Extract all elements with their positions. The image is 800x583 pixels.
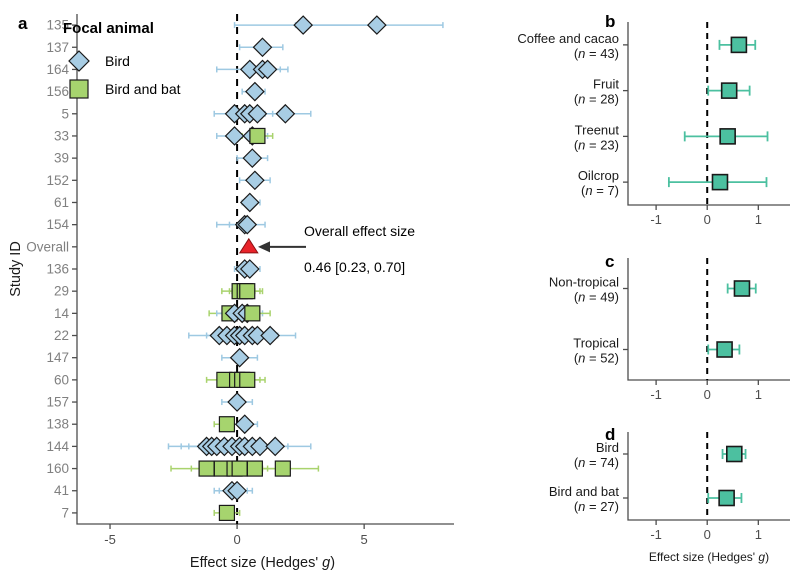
- panel-a-study-label: 41: [54, 483, 69, 498]
- marker-bird-diamond: [254, 38, 272, 56]
- panel-d-xtick-label: 1: [755, 527, 762, 542]
- marker-bird-and-bat-square: [219, 417, 234, 432]
- marker-bird-diamond: [226, 127, 244, 145]
- panel-a-study-label: 61: [54, 195, 69, 210]
- panel-c-xtick-label: 1: [755, 387, 762, 402]
- summary-marker-square: [734, 281, 749, 296]
- marker-bird-diamond: [294, 16, 312, 34]
- marker-bird-diamond: [246, 171, 264, 189]
- marker-bird-diamond: [266, 437, 284, 455]
- panel-d-xtick-label: -1: [650, 527, 662, 542]
- panel-c-axes: [628, 258, 790, 380]
- summary-marker-square: [720, 129, 735, 144]
- study-row: [235, 16, 443, 34]
- panel-a-study-label: 29: [54, 284, 69, 299]
- marker-bird-diamond: [276, 105, 294, 123]
- panel-a-study-label: 22: [54, 328, 69, 343]
- panel-a-study-label: 60: [54, 372, 69, 387]
- study-row: [222, 349, 258, 367]
- panel-a-study-label: 157: [46, 395, 69, 410]
- marker-bird-and-bat-square: [250, 128, 265, 143]
- forest-plot-figure: a-505Effect size (Hedges' g)Study ID1351…: [0, 0, 800, 583]
- panel-a-letter: a: [18, 14, 28, 33]
- panel-a: a-505Effect size (Hedges' g)Study ID1351…: [8, 14, 454, 571]
- panel-a-xtick-label: -5: [104, 532, 116, 547]
- study-row: [214, 105, 311, 123]
- study-row: [237, 149, 267, 167]
- summary-marker-square: [727, 447, 742, 462]
- panel-c-group-label: Non-tropical(n = 49): [549, 275, 619, 305]
- legend-title: Focal animal: [63, 20, 154, 37]
- marker-bird-and-bat-square: [245, 306, 260, 321]
- marker-bird-diamond: [243, 149, 261, 167]
- panel-a-study-label: 7: [61, 505, 69, 520]
- annotation-line-2: 0.46 [0.23, 0.70]: [304, 259, 405, 275]
- study-row: [235, 260, 260, 278]
- marker-bird-and-bat-square: [240, 284, 255, 299]
- overall-annotation: Overall effect size0.46 [0.23, 0.70]: [258, 223, 415, 275]
- panel-a-study-label: 136: [46, 262, 69, 277]
- study-row: [207, 372, 265, 387]
- figure-svg: a-505Effect size (Hedges' g)Study ID1351…: [0, 0, 800, 583]
- panel-b-group-label: Oilcrop(n = 7): [578, 168, 619, 198]
- panel-b-group-label: Treenut(n = 23): [574, 122, 620, 152]
- panel-a-study-label: 5: [61, 106, 69, 121]
- annotation-line-1: Overall effect size: [304, 223, 415, 239]
- panel-a-xaxis-title: Effect size (Hedges' g): [190, 555, 335, 571]
- panel-a-xtick-label: 5: [361, 532, 368, 547]
- panel-a-study-label: 138: [46, 417, 69, 432]
- marker-bird-diamond: [246, 83, 264, 101]
- overall-effect-marker: [240, 239, 258, 253]
- panel-d-group-label: Bird and bat(n = 27): [549, 484, 619, 514]
- panel-a-study-label: Overall: [26, 239, 69, 254]
- study-row: [241, 193, 260, 211]
- panel-a-study-label: 152: [46, 173, 69, 188]
- panel-d-xtick-label: 0: [704, 527, 711, 542]
- study-row: [168, 437, 310, 455]
- panel-d-axes: [628, 432, 790, 520]
- panel-c-xtick-label: -1: [650, 387, 662, 402]
- legend-marker-bird-diamond-icon: [69, 51, 89, 71]
- study-row: [217, 127, 273, 145]
- study-row: [214, 505, 239, 520]
- summary-marker-square: [712, 175, 727, 190]
- panel-a-study-label: 137: [46, 40, 69, 55]
- marker-bird-and-bat-square: [275, 461, 290, 476]
- panel-b-group-label: Coffee and cacao(n = 43): [517, 31, 619, 61]
- panel-a-study-label: 33: [54, 128, 69, 143]
- panel-d-xaxis-title: Effect size (Hedges' g): [649, 550, 769, 564]
- marker-bird-diamond: [238, 216, 256, 234]
- panel-a-study-label: 160: [46, 461, 69, 476]
- marker-bird-diamond: [368, 16, 386, 34]
- panel-d-group-label: Bird(n = 74): [574, 440, 619, 470]
- marker-bird-diamond: [261, 327, 279, 345]
- marker-bird-and-bat-square: [247, 461, 262, 476]
- panel-a-study-label: 164: [46, 62, 69, 77]
- panel-b: b-101Coffee and cacao(n = 43)Fruit(n = 2…: [517, 12, 790, 227]
- panel-a-study-label: 154: [46, 217, 69, 232]
- marker-bird-diamond: [228, 393, 246, 411]
- panel-c-group-label: Tropical(n = 52): [573, 336, 619, 366]
- study-row: [214, 482, 252, 500]
- summary-marker-square: [731, 37, 746, 52]
- study-row: [240, 38, 283, 56]
- summary-marker-square: [717, 342, 732, 357]
- study-row: [214, 415, 257, 433]
- panel-a-xtick-label: 0: [233, 532, 240, 547]
- marker-bird-and-bat-square: [219, 505, 234, 520]
- panel-a-study-label: 14: [54, 306, 70, 321]
- panel-d: d-101Bird(n = 74)Bird and bat(n = 27)Eff…: [549, 425, 790, 564]
- marker-bird-diamond: [236, 415, 254, 433]
- panel-a-study-label: 147: [46, 350, 69, 365]
- legend-marker-bird-and-bat-square-icon: [70, 80, 88, 98]
- panel-a-study-label: 39: [54, 151, 69, 166]
- legend-label-bird-and-bat: Bird and bat: [105, 81, 181, 97]
- panel-c: c-101Non-tropical(n = 49)Tropical(n = 52…: [549, 252, 790, 402]
- marker-bird-and-bat-square: [199, 461, 214, 476]
- panel-c-xtick-label: 0: [704, 387, 711, 402]
- marker-bird-diamond: [231, 349, 249, 367]
- overall-triangle-icon: [240, 239, 258, 253]
- panel-b-group-label: Fruit(n = 28): [574, 77, 620, 107]
- panel-b-xtick-label: 1: [755, 212, 762, 227]
- legend: Focal animalBirdBird and bat: [63, 20, 181, 98]
- summary-marker-square: [722, 83, 737, 98]
- marker-bird-and-bat-square: [232, 461, 247, 476]
- study-row: [217, 216, 265, 234]
- panel-b-letter: b: [605, 12, 615, 31]
- marker-bird-diamond: [241, 193, 259, 211]
- panel-a-yaxis-title: Study ID: [8, 241, 24, 297]
- summary-marker-square: [719, 491, 734, 506]
- study-row: [222, 284, 263, 299]
- panel-a-study-label: 156: [46, 84, 69, 99]
- annotation-arrow-head-icon: [258, 241, 270, 252]
- study-row: [209, 304, 270, 322]
- panel-b-xtick-label: 0: [704, 212, 711, 227]
- marker-bird-and-bat-square: [240, 372, 255, 387]
- panel-b-xtick-label: -1: [650, 212, 662, 227]
- study-row: [242, 83, 265, 101]
- legend-label-bird: Bird: [105, 53, 130, 69]
- panel-c-letter: c: [605, 252, 614, 271]
- study-row: [171, 461, 318, 476]
- study-row: [189, 327, 296, 345]
- panel-a-study-label: 144: [46, 439, 69, 454]
- study-row: [240, 171, 270, 189]
- study-row: [222, 393, 252, 411]
- study-row: [217, 60, 288, 78]
